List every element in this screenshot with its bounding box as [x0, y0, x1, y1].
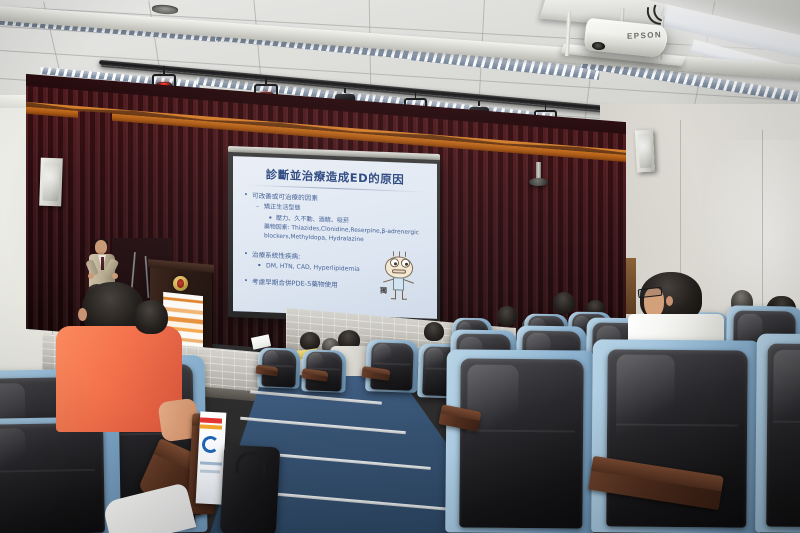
- attendee-ear: [666, 296, 673, 306]
- audience-member: [300, 332, 320, 350]
- lecture-hall-photo: EPSON: [0, 0, 800, 533]
- projected-slide: 診斷並治療造成ED的原因 可改善或可治療的因素 矯正生活型態 壓力、久不動、酒精…: [233, 156, 437, 319]
- wall-speaker-left: [39, 158, 63, 207]
- pamphlet-band: [200, 417, 222, 423]
- podium-emblem: [173, 276, 188, 291]
- hanging-microphone: [529, 178, 548, 186]
- seat[interactable]: [365, 339, 419, 393]
- audience-member: [424, 322, 444, 341]
- presenter-tie: [101, 257, 104, 270]
- ceiling-vent: [152, 4, 179, 15]
- wall-speaker-right: [635, 130, 655, 173]
- surprised-face-cartoon: 獨: [381, 250, 421, 308]
- projector-brand-label: EPSON: [627, 30, 662, 41]
- seat-foreground[interactable]: [445, 349, 597, 533]
- seat-foreground[interactable]: [0, 416, 121, 533]
- audience-member: [497, 306, 517, 326]
- seat-foreground[interactable]: [591, 339, 763, 533]
- attendee-ear: [78, 308, 87, 321]
- seat-foreground[interactable]: [755, 333, 800, 533]
- audience-member: [134, 300, 168, 334]
- cartoon-label: 獨: [380, 286, 387, 296]
